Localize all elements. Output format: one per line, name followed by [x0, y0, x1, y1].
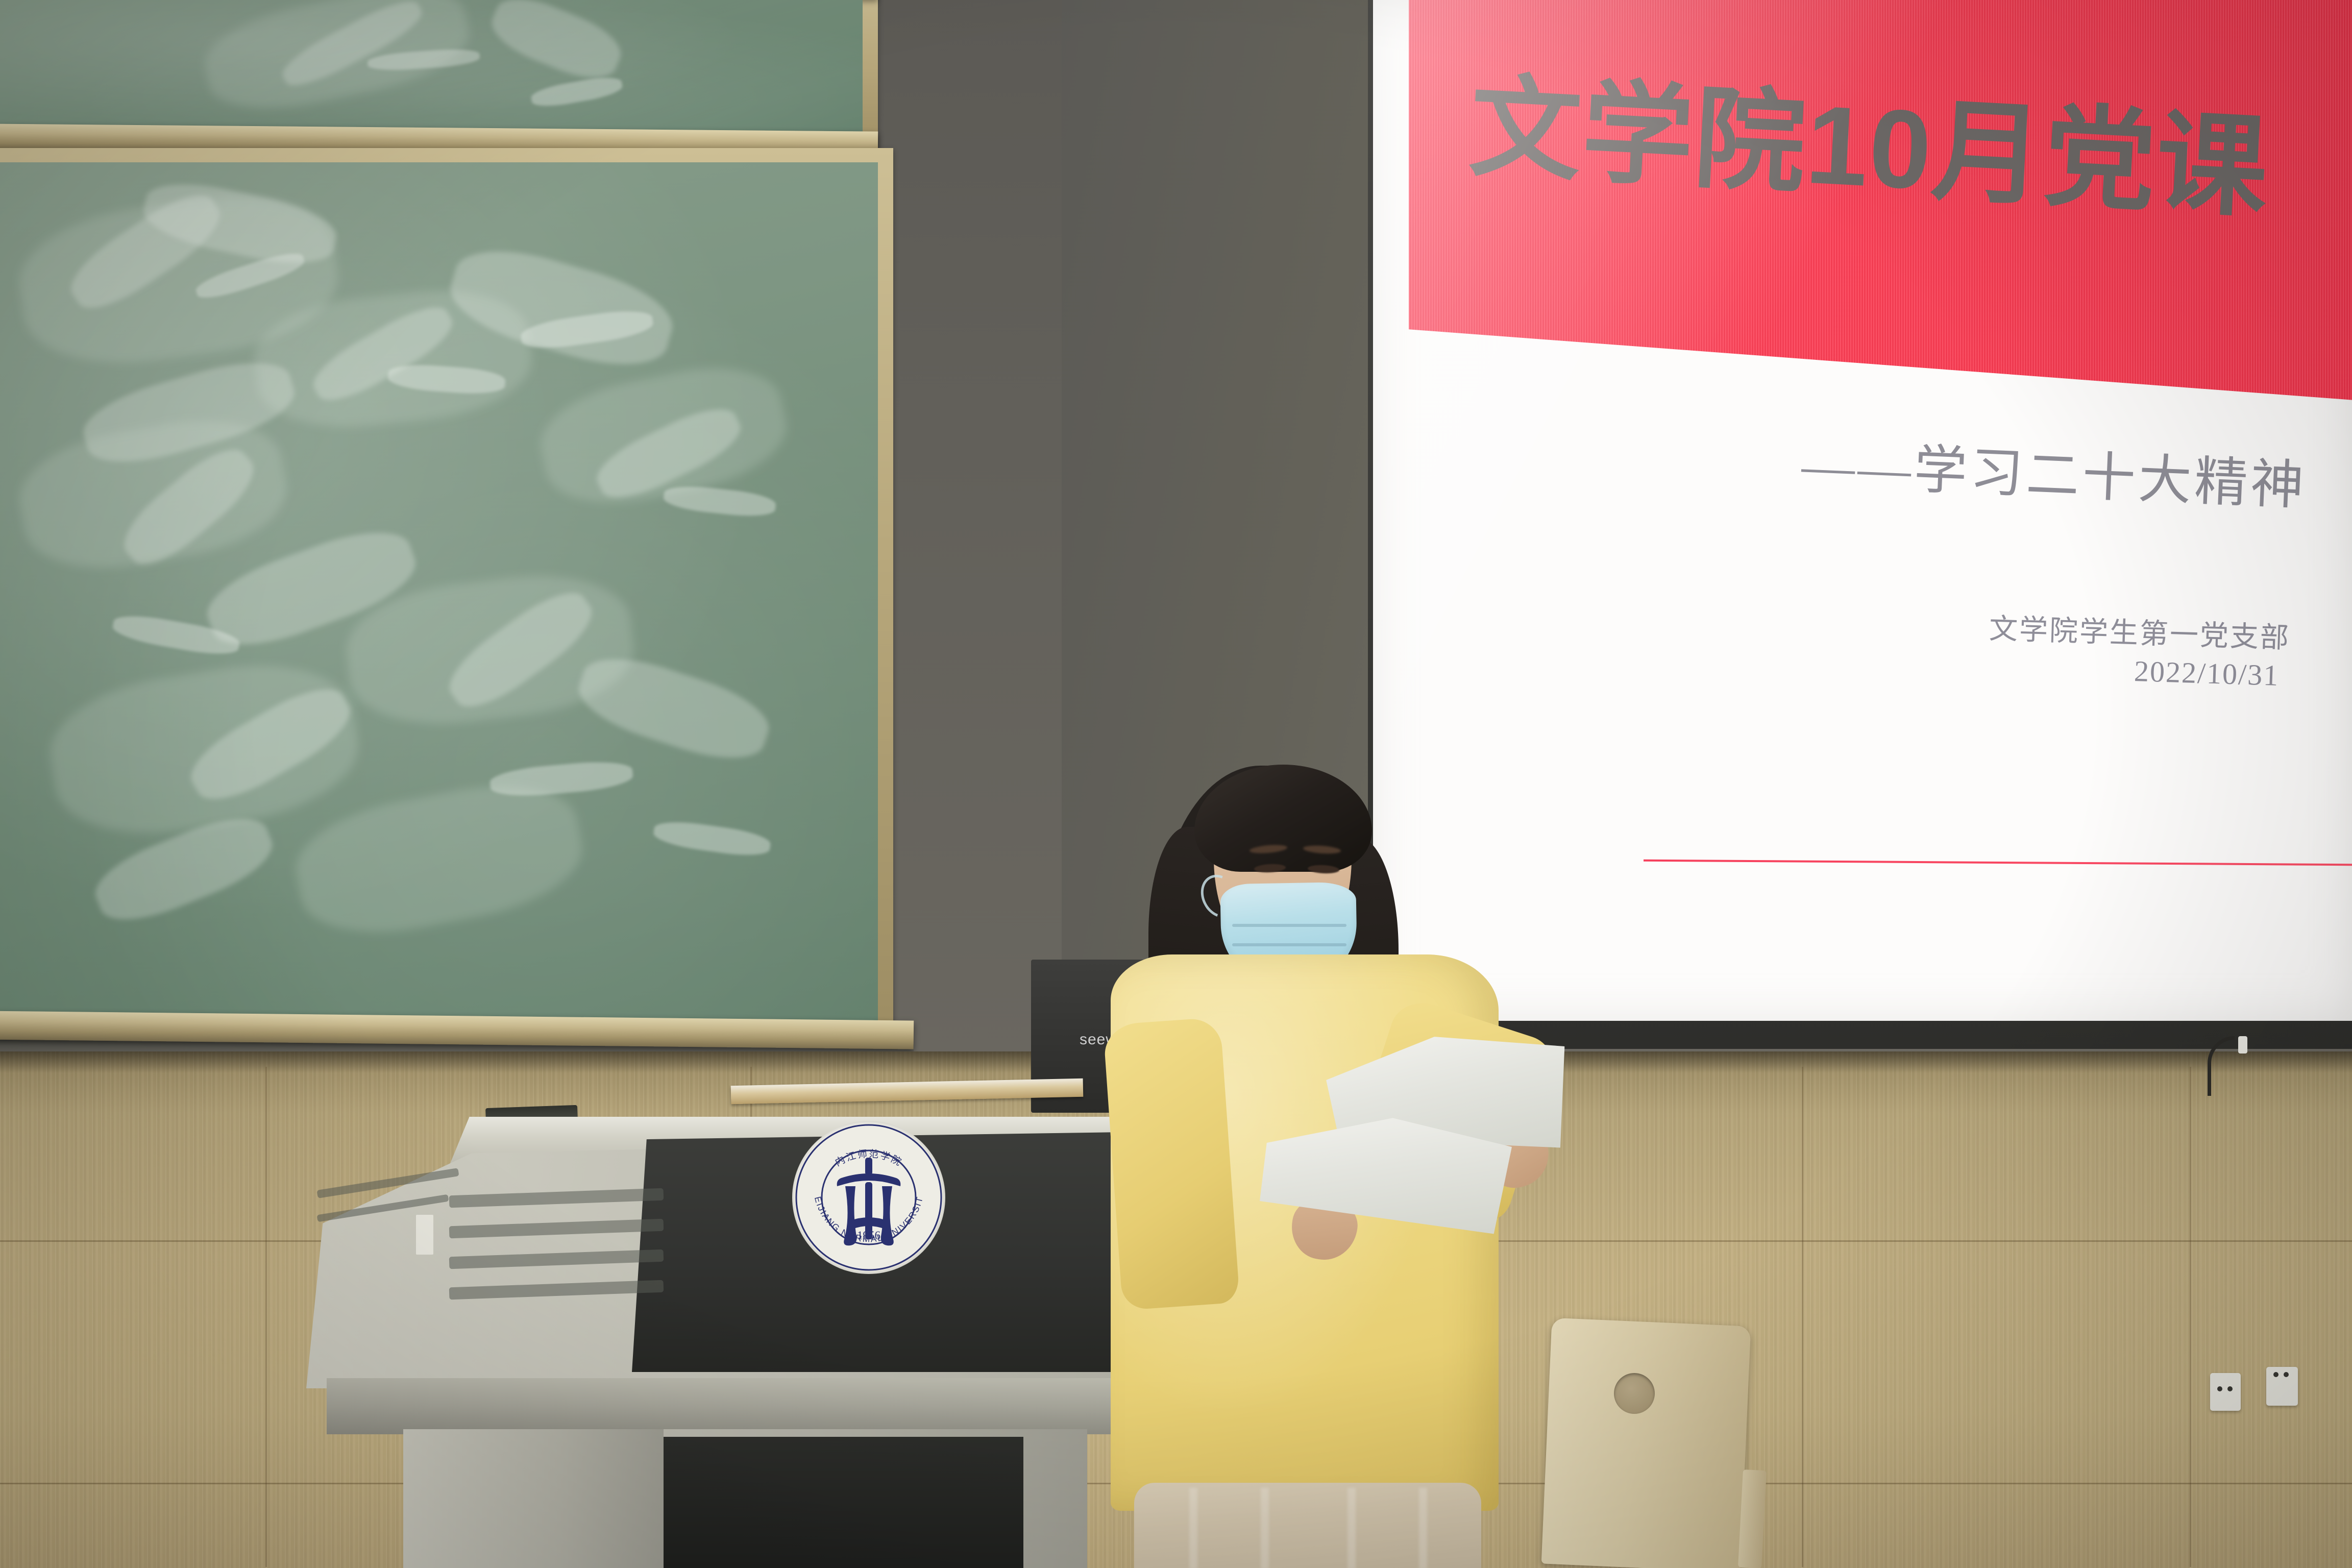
wainscot-vseam-4 [2190, 1067, 2191, 1567]
cable-connector-tip [2238, 1036, 2247, 1053]
wainscot-vseam-1 [265, 1067, 267, 1567]
presentation-slide: 文学院10月党课 ——学习二十大精神 文学院学生第一党支部 2022/10/31 [1373, 0, 2352, 1021]
university-emblem: 1956 内江师范学院 NEIJIANG NORMAL UNIVERSITY [792, 1121, 945, 1274]
skirt-fold [1189, 1488, 1197, 1568]
speaker-left-arm [1103, 1017, 1240, 1311]
chalkboard-section-a [0, 0, 863, 143]
slide-divider-rule [1644, 860, 2352, 866]
podium-asset-sticker [416, 1215, 433, 1255]
podium-cabinet-opening [656, 1437, 1023, 1568]
skirt-fold [1347, 1488, 1356, 1568]
skirt-fold [1419, 1488, 1427, 1568]
podium-left-leg [403, 1429, 664, 1568]
chair-back-hole [1614, 1373, 1655, 1414]
skirt-fold [1261, 1488, 1269, 1568]
slide-subtitle: ——学习二十大精神 [1801, 439, 2308, 513]
classroom-photo: 文学院10月党课 ——学习二十大精神 文学院学生第一党支部 2022/10/31… [0, 0, 2352, 1568]
wooden-chair-back [1541, 1318, 1751, 1568]
wall-power-outlet[interactable] [2210, 1373, 2241, 1411]
projector-screen: 文学院10月党课 ——学习二十大精神 文学院学生第一党支部 2022/10/31 [1373, 0, 2352, 1021]
mask-pleat-line [1232, 943, 1346, 946]
podium-base-shelf [327, 1378, 1123, 1434]
slide-organization: 文学院学生第一党支部 [1989, 605, 2291, 656]
emblem-graphic: 1956 内江师范学院 NEIJIANG NORMAL UNIVERSITY [792, 1121, 945, 1274]
wainscot-vseam-3 [1802, 1067, 1803, 1567]
speaker-skirt [1134, 1483, 1481, 1568]
slide-date: 2022/10/31 [2134, 654, 2280, 693]
chalkboard-lower [0, 162, 878, 1025]
mask-pleat-line [1232, 924, 1346, 927]
wall-power-outlet[interactable] [2266, 1367, 2298, 1406]
